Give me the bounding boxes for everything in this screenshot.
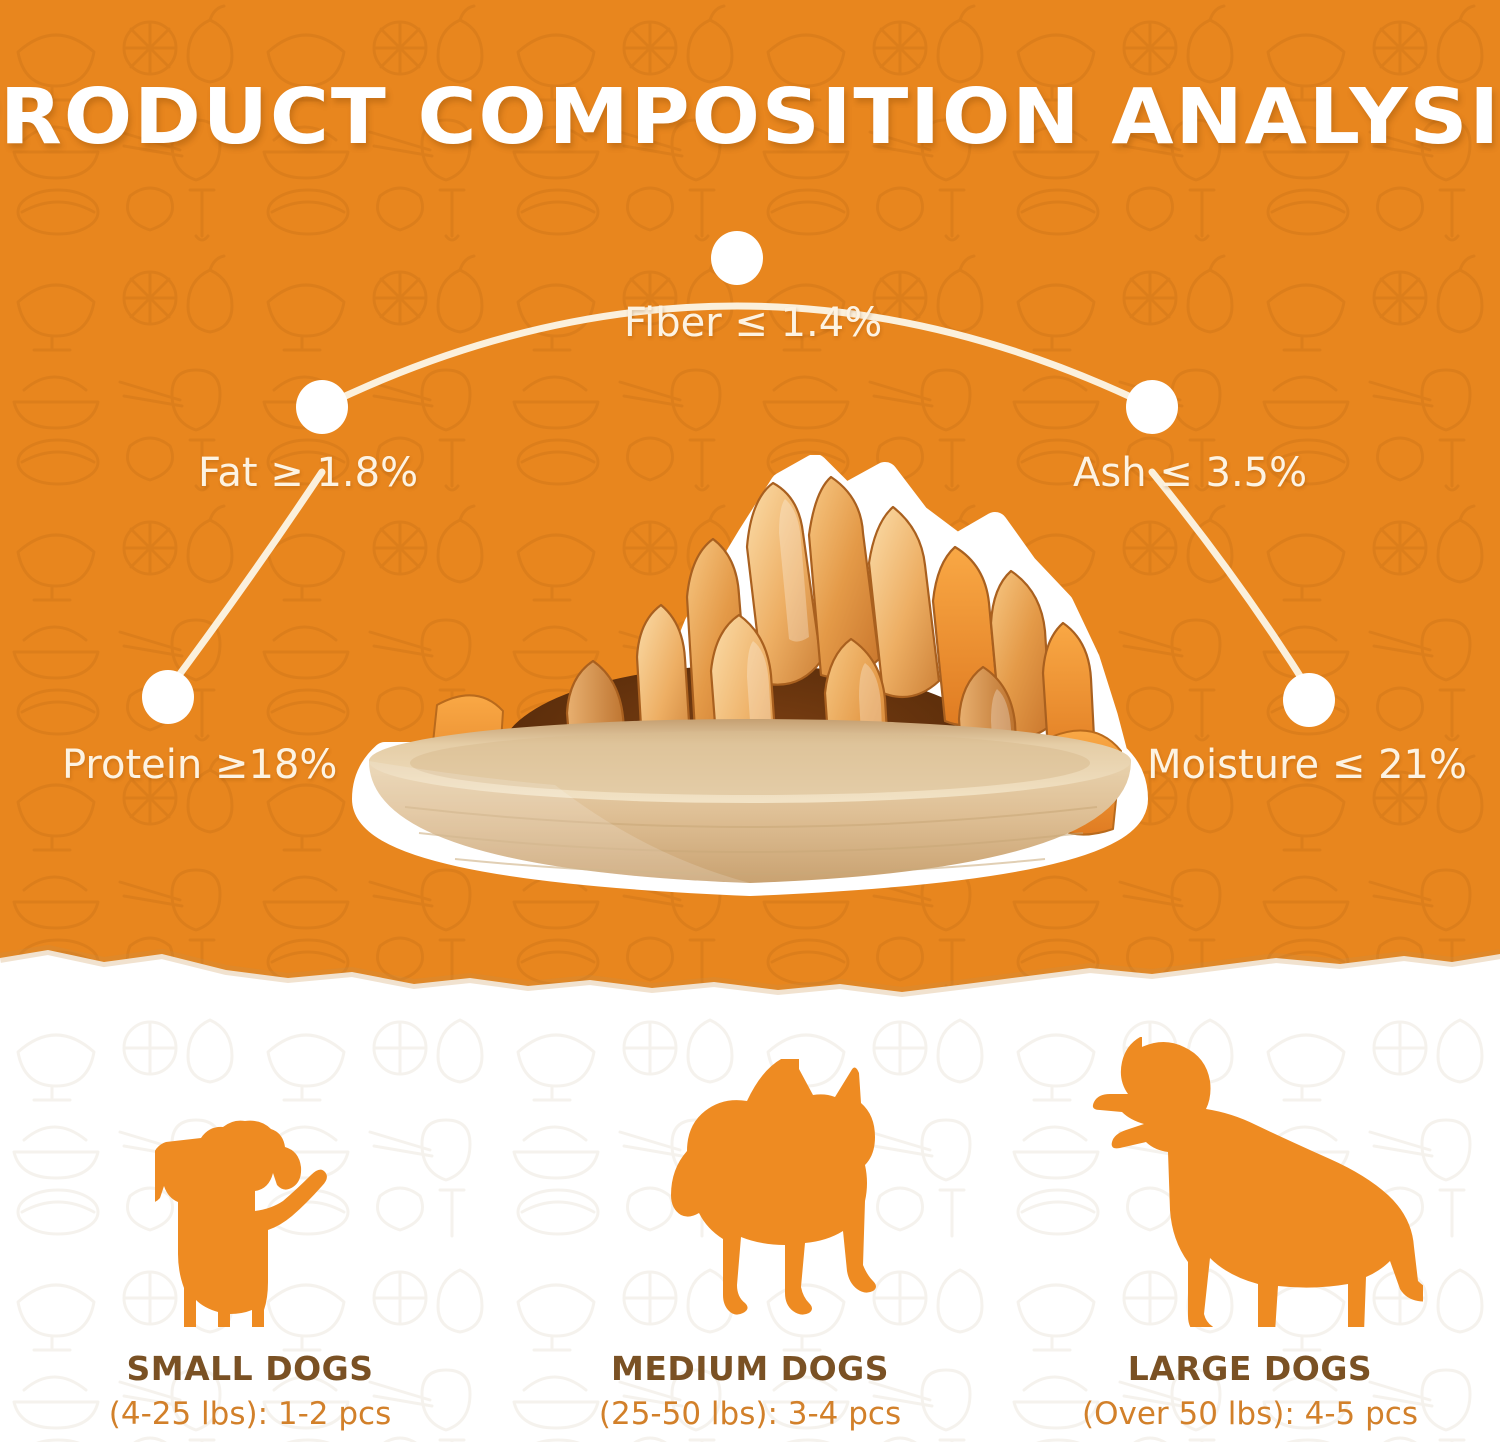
feeding-group-medium: MEDIUM DOGS (25-50 lbs): 3-4 pcs [500,1010,1000,1442]
feeding-group-title-large: LARGE DOGS [1128,1349,1372,1388]
node-dot-protein [142,670,194,724]
nutrient-label-protein: Protein ≥18% [62,742,337,788]
nutrient-label-moisture: Moisture ≤ 21% [1147,742,1467,788]
feeding-guide-row: SMALL DOGS (4-25 lbs): 1-2 pcs MEDIUM DO… [0,1010,1500,1442]
feeding-group-detail-medium: (25-50 lbs): 3-4 pcs [599,1396,901,1432]
feeding-group-title-medium: MEDIUM DOGS [611,1349,889,1388]
feeding-group-large: LARGE DOGS (Over 50 lbs): 4-5 pcs [1000,1010,1500,1442]
torn-paper-divider [0,912,1500,1010]
composition-panel: PRODUCT COMPOSITION ANALYSIS Fiber ≤ 1.4… [0,0,1500,1010]
large-dog-silhouette [1078,1037,1423,1327]
nutrient-label-fiber: Fiber ≤ 1.4% [624,300,882,346]
node-dot-ash [1126,380,1178,434]
small-dog-silhouette [155,1112,345,1327]
infographic-root: PRODUCT COMPOSITION ANALYSIS Fiber ≤ 1.4… [0,0,1500,1442]
arc-right [1152,472,1309,690]
feeding-group-title-small: SMALL DOGS [127,1349,374,1388]
node-dot-fiber [711,231,763,285]
feeding-group-detail-small: (4-25 lbs): 1-2 pcs [109,1396,392,1432]
node-dot-fat [296,380,348,434]
arc-left [168,472,322,690]
node-dot-moisture [1283,673,1335,727]
product-photo [345,455,1155,900]
feeding-group-detail-large: (Over 50 lbs): 4-5 pcs [1082,1396,1418,1432]
medium-dog-silhouette [621,1059,879,1327]
feeding-guide-panel: SMALL DOGS (4-25 lbs): 1-2 pcs MEDIUM DO… [0,1010,1500,1442]
feeding-group-small: SMALL DOGS (4-25 lbs): 1-2 pcs [0,1010,500,1442]
